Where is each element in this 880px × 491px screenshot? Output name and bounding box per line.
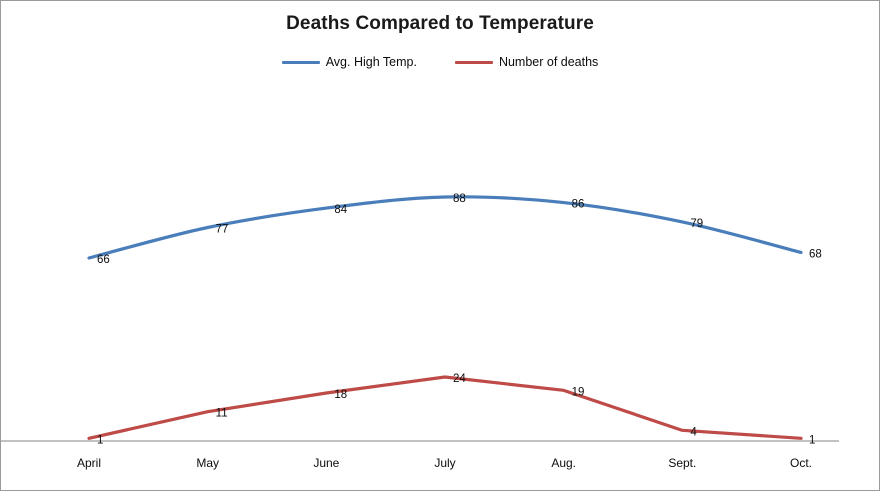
data-label: 18 <box>334 389 347 401</box>
x-axis-tick-label: July <box>434 456 455 470</box>
data-label: 24 <box>453 373 466 385</box>
x-axis-tick-layer: AprilMayJuneJulyAug.Sept.Oct. <box>77 456 812 470</box>
x-axis-tick-label: Oct. <box>790 456 812 470</box>
data-label: 1 <box>97 434 103 446</box>
data-label: 66 <box>97 254 110 266</box>
data-label: 19 <box>572 386 585 398</box>
data-label: 79 <box>690 218 703 230</box>
x-axis-tick-label: Sept. <box>668 456 696 470</box>
series-layer <box>89 197 801 439</box>
data-label: 11 <box>216 408 228 420</box>
chart-container: Deaths Compared to Temperature Avg. High… <box>0 0 880 491</box>
plot-area: 6677848886796811118241941 AprilMayJuneJu… <box>1 1 879 490</box>
data-label: 68 <box>809 248 822 260</box>
data-label: 4 <box>690 426 697 438</box>
x-axis-tick-label: April <box>77 456 101 470</box>
x-axis-tick-label: June <box>313 456 339 470</box>
data-label: 88 <box>453 193 466 205</box>
data-label: 86 <box>572 199 585 211</box>
x-axis-tick-label: Aug. <box>551 456 576 470</box>
data-label: 1 <box>809 434 815 446</box>
x-axis-tick-label: May <box>196 456 219 470</box>
data-label-layer: 6677848886796811118241941 <box>97 193 822 446</box>
data-label: 77 <box>216 224 229 236</box>
data-label: 84 <box>334 204 347 216</box>
